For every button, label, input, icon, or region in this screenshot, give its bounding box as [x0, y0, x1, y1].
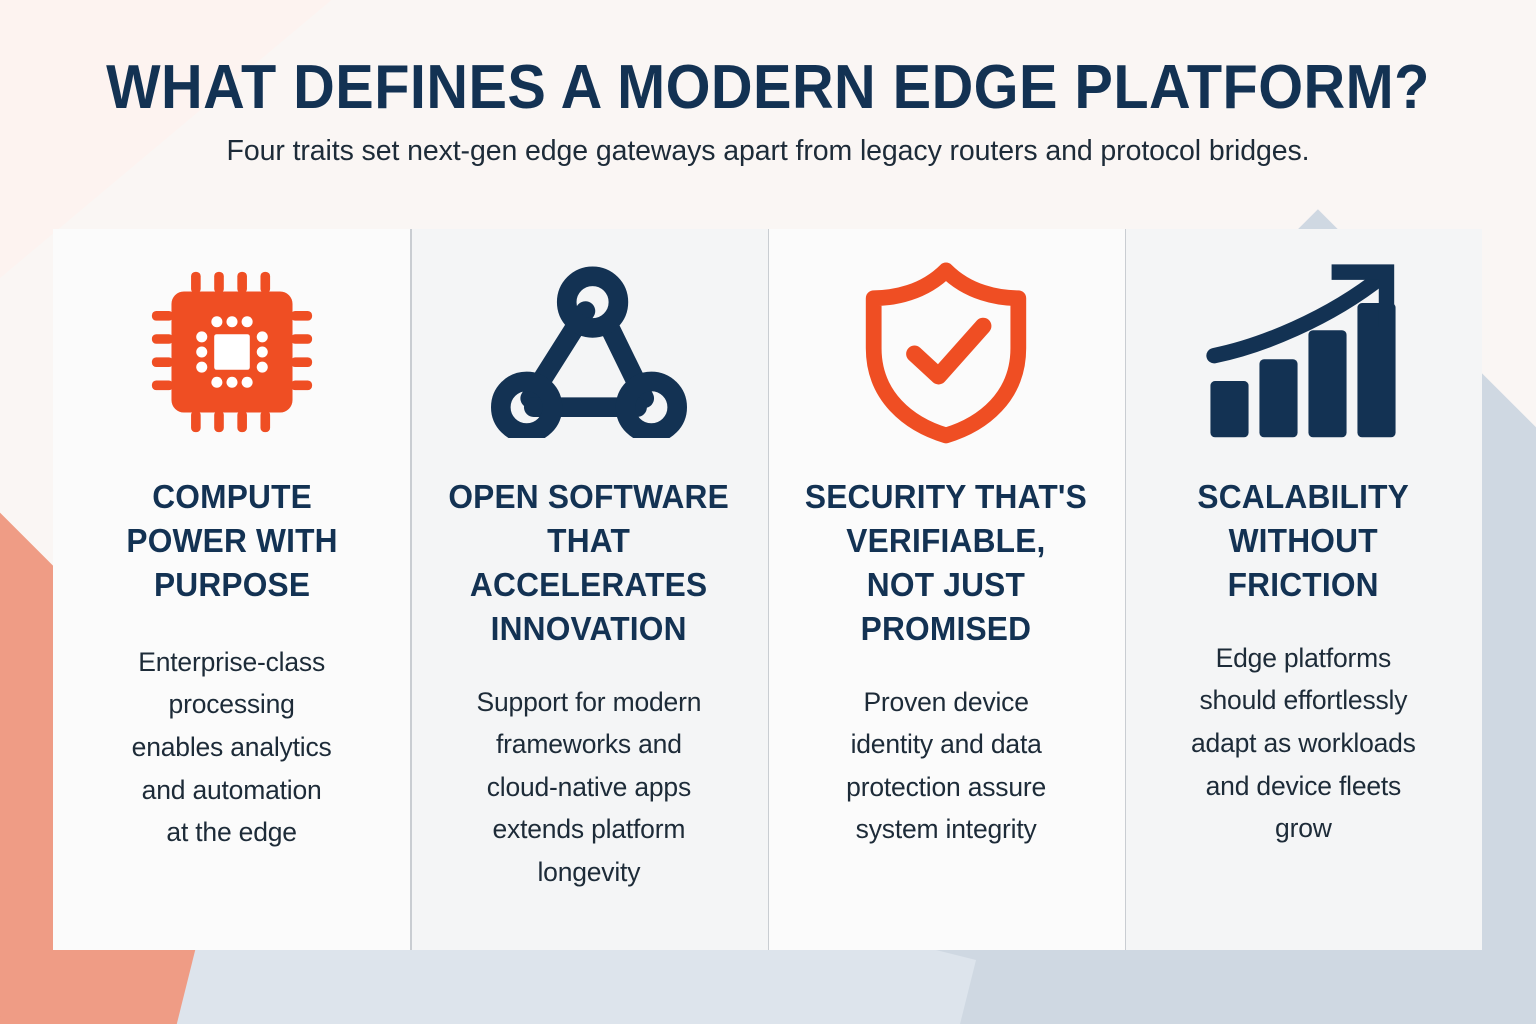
infographic-canvas: WHAT DEFINES A MODERN EDGE PLATFORM? Fou… [0, 0, 1536, 1024]
card-title: SECURITY THAT'S VERIFIABLE, NOT JUST PRO… [805, 475, 1087, 651]
card-body: Proven device identity and data protecti… [846, 681, 1046, 852]
card-title: COMPUTE POWER WITH PURPOSE [126, 475, 337, 607]
card-title: SCALABILITY WITHOUT FRICTION [1198, 475, 1410, 607]
growth-bar-chart-icon [1205, 229, 1401, 475]
background-band-pink-light [0, 259, 61, 1024]
cpu-chip-icon [143, 229, 321, 475]
feature-card-open-software: OPEN SOFTWARE THAT ACCELERATES INNOVATIO… [410, 229, 767, 950]
feature-card-strip: COMPUTE POWER WITH PURPOSE Enterprise-cl… [53, 229, 1482, 950]
network-nodes-icon [491, 229, 687, 475]
page-subtitle: Four traits set next-gen edge gateways a… [0, 134, 1536, 170]
feature-card-security: SECURITY THAT'S VERIFIABLE, NOT JUST PRO… [768, 229, 1125, 950]
card-body: Edge platforms should effortlessly adapt… [1191, 637, 1416, 850]
feature-card-compute: COMPUTE POWER WITH PURPOSE Enterprise-cl… [53, 229, 410, 950]
page-title: WHAT DEFINES A MODERN EDGE PLATFORM? [54, 56, 1482, 120]
card-body: Support for modern frameworks and cloud-… [477, 681, 702, 894]
feature-card-scalability: SCALABILITY WITHOUT FRICTION Edge platfo… [1125, 229, 1482, 950]
shield-check-icon [857, 229, 1035, 475]
card-title: OPEN SOFTWARE THAT ACCELERATES INNOVATIO… [435, 475, 743, 651]
header: WHAT DEFINES A MODERN EDGE PLATFORM? Fou… [0, 56, 1536, 170]
card-body: Enterprise-class processing enables anal… [132, 641, 332, 854]
